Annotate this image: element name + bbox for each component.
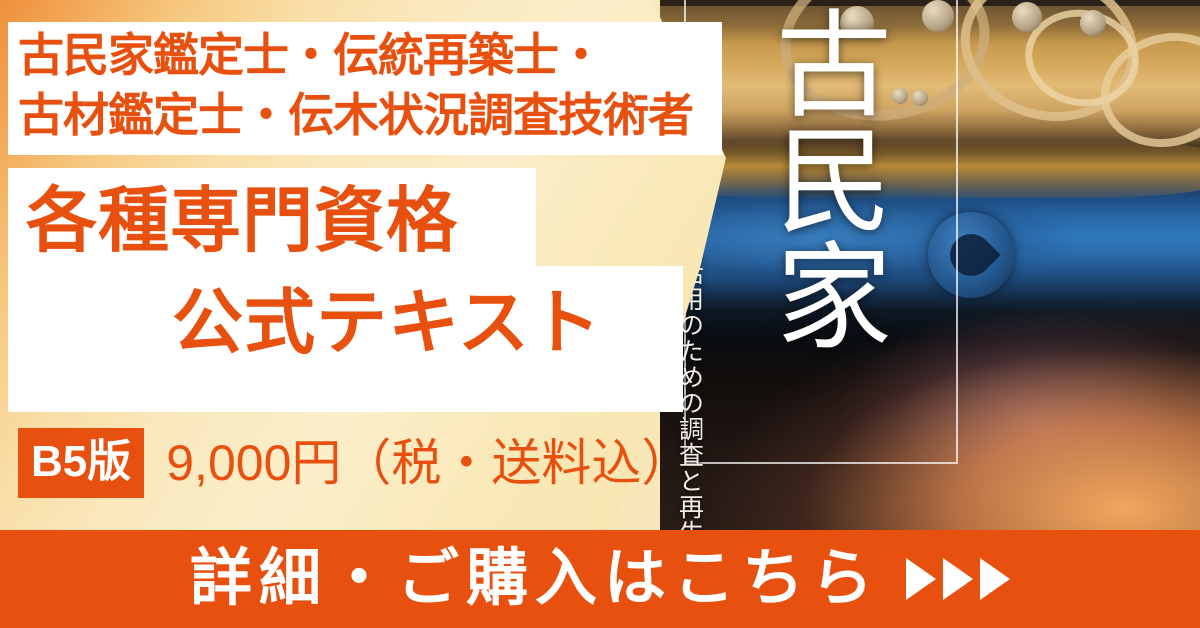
chevron-right-icon — [980, 558, 1010, 600]
headline-line-1: 各種専門資格 — [26, 186, 458, 257]
book-cover-image: 古民家 伝統構法、古民家活用のための調査と再生の — [660, 0, 1200, 530]
cta-bar[interactable]: 詳細・ご購入はこちら — [0, 530, 1200, 628]
carving-knob-icon — [1012, 2, 1042, 32]
chevron-right-icon — [943, 558, 973, 600]
certifications-text: 古民家鑑定士・伝統再築士・ 古材鑑定士・伝木状況調査技術者 — [18, 26, 724, 146]
cta-arrows — [906, 558, 1010, 600]
chevron-right-icon — [906, 558, 936, 600]
price-text: 9,000円（税・送料込） — [166, 438, 691, 488]
carving-knob-icon — [1080, 10, 1106, 36]
cover-title: 古民家 — [742, 4, 892, 352]
format-badge: B5版 — [18, 428, 144, 498]
promo-banner: 古民家 伝統構法、古民家活用のための調査と再生の 古民家鑑定士・伝統再築士・ 古… — [0, 0, 1200, 628]
price-row: B5版 9,000円（税・送料込） — [18, 428, 691, 498]
headline-line-2: 公式テキスト — [172, 288, 602, 359]
cta-label: 詳細・ご購入はこちら — [190, 548, 880, 610]
